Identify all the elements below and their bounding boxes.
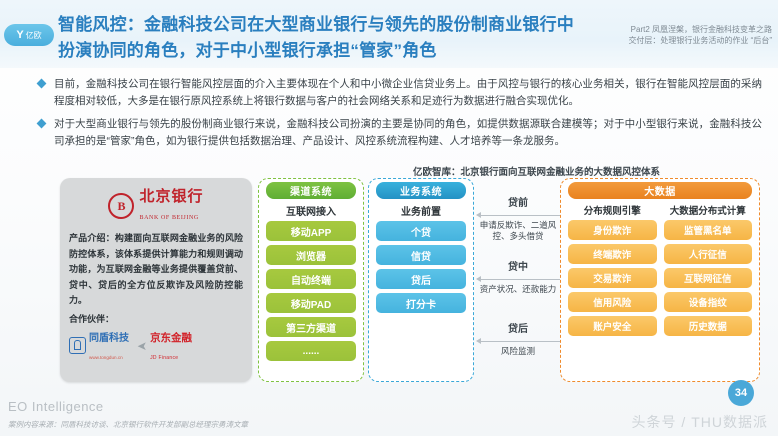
bigdata-chip: 人行征信 — [664, 244, 753, 264]
page-title: 智能风控：金融科技公司在大型商业银行与领先的股份制商业银行中扮演协同的角色，对于… — [58, 12, 588, 64]
column-big-data: 大数据 分布规则引擎 身份欺诈 终端欺诈 交易欺诈 信用风险 账户安全 大数据分… — [560, 178, 760, 382]
risk-control-diagram: B 北京银行 BANK OF BEIJING 产品介绍：构建面向互联网金融业务的… — [0, 176, 778, 392]
slide: Y 亿欧 智能风控：金融科技公司在大型商业银行与领先的股份制商业银行中扮演协同的… — [0, 0, 778, 436]
column-header: 大数据 — [568, 182, 752, 199]
eo-logo-mark: Y — [16, 30, 23, 41]
stage-name: 贷前 — [476, 194, 560, 209]
bank-of-beijing-card: B 北京银行 BANK OF BEIJING 产品介绍：构建面向互联网金融业务的… — [60, 178, 252, 382]
column-subtitle: 互联网接入 — [266, 203, 356, 218]
footer-brand: EO Intelligence — [8, 399, 104, 414]
bullet-text: 对于大型商业银行与领先的股份制商业银行来说，金融科技公司扮演的主要是协同的角色，… — [54, 116, 762, 150]
business-chip: 打分卡 — [376, 293, 466, 313]
arrow-left-icon — [476, 337, 560, 345]
column-header: 业务系统 — [376, 182, 466, 199]
eo-logo: Y 亿欧 — [4, 24, 54, 46]
column-business-system: 业务系统 业务前置 个贷 信贷 贷后 打分卡 — [368, 178, 474, 382]
partner-subtitle: JD Finance — [150, 355, 178, 361]
bank-logo: B 北京银行 BANK OF BEIJING — [68, 188, 244, 224]
bullet-text: 目前，金融科技公司在银行智能风控层面的介入主要体现在个人和中小微企业信贷业务上。… — [54, 76, 762, 110]
bigdata-chip: 监管黑名单 — [664, 220, 753, 240]
group-subtitle: 分布规则引擎 — [568, 203, 657, 217]
business-chip: 信贷 — [376, 245, 466, 265]
bigdata-chip: 设备指纹 — [664, 292, 753, 312]
footer-source: 案例内容来源：同盾科技访谈、北京银行软件开发部副总经理宗勇涛文章 — [8, 419, 248, 430]
bigdata-group-rule-engine: 分布规则引擎 身份欺诈 终端欺诈 交易欺诈 信用风险 账户安全 — [568, 199, 657, 340]
stage-name: 贷中 — [476, 258, 560, 273]
bank-seal-icon: B — [108, 193, 134, 219]
channel-chip: 第三方渠道 — [266, 317, 356, 337]
partner-name: 京东金融 — [150, 332, 192, 344]
channel-chip: 移动APP — [266, 221, 356, 241]
diamond-bullet-icon — [37, 119, 47, 129]
bigdata-chip: 交易欺诈 — [568, 268, 657, 288]
header-note-line2: 交付层：处理银行业务活动的作业 “后台” — [582, 35, 772, 46]
partner-name: 同盾科技 — [89, 333, 129, 344]
bank-name-cn: 北京银行 — [139, 188, 203, 205]
diamond-bullet-icon — [37, 79, 47, 89]
group-subtitle: 大数据分布式计算 — [664, 203, 753, 217]
bigdata-chip: 互联网征信 — [664, 268, 753, 288]
stage-name: 贷后 — [476, 320, 560, 335]
column-subtitle: 业务前置 — [376, 203, 466, 218]
header-note: Part2 凤凰涅槃，银行金融科技变革之路 交付层：处理银行业务活动的作业 “后… — [582, 24, 772, 46]
eo-logo-text: 亿欧 — [26, 31, 42, 40]
bullet-item: 对于大型商业银行与领先的股份制商业银行来说，金融科技公司扮演的主要是协同的角色，… — [36, 116, 762, 150]
bullet-item: 目前，金融科技公司在银行智能风控层面的介入主要体现在个人和中小微企业信贷业务上。… — [36, 76, 762, 110]
stage-desc: 风险监测 — [476, 346, 560, 357]
bullet-list: 目前，金融科技公司在银行智能风控层面的介入主要体现在个人和中小微企业信贷业务上。… — [36, 76, 762, 156]
column-channel-system: 渠道系统 互联网接入 移动APP 浏览器 自动终端 移动PAD 第三方渠道 ..… — [258, 178, 364, 382]
header-note-line1: Part2 凤凰涅槃，银行金融科技变革之路 — [582, 24, 772, 35]
column-header: 渠道系统 — [266, 182, 356, 199]
channel-chip: 移动PAD — [266, 293, 356, 313]
partner-tongdun: 同盾科技 www.tongdun.cn — [69, 328, 129, 364]
channel-chip: 浏览器 — [266, 245, 356, 265]
stage-pre-loan: 贷前 申请反欺诈、二道风控、多头借贷 — [476, 194, 560, 242]
partner-logos: 同盾科技 www.tongdun.cn ➤ 京东金融 JD Finance — [69, 328, 244, 364]
page-number-badge: 34 — [728, 380, 754, 406]
bigdata-chip: 信用风险 — [568, 292, 657, 312]
business-chip: 贷后 — [376, 269, 466, 289]
partner-url: www.tongdun.cn — [89, 355, 123, 360]
stage-post-loan: 贷后 风险监测 — [476, 320, 560, 357]
stage-desc: 资产状况、还款能力 — [476, 284, 560, 295]
bigdata-group-distributed-computing: 大数据分布式计算 监管黑名单 人行征信 互联网征信 设备指纹 历史数据 — [664, 199, 753, 340]
tongdun-shield-icon — [69, 337, 86, 354]
bigdata-chip: 账户安全 — [568, 316, 657, 336]
partner-label: 合作伙伴： — [69, 312, 243, 325]
arrow-left-icon — [476, 211, 560, 219]
product-intro: 产品介绍：构建面向互联网金融业务的风险防控体系，该体系提供计算能力和规则调动功能… — [69, 231, 243, 309]
stage-during-loan: 贷中 资产状况、还款能力 — [476, 258, 560, 295]
bigdata-chip: 身份欺诈 — [568, 220, 657, 240]
loan-stage-flow: 贷前 申请反欺诈、二道风控、多头借贷 贷中 资产状况、还款能力 贷后 风险监测 — [476, 182, 560, 380]
channel-chip: 自动终端 — [266, 269, 356, 289]
stage-desc: 申请反欺诈、二道风控、多头借贷 — [476, 220, 560, 242]
bigdata-chip: 历史数据 — [664, 316, 753, 336]
watermark: 头条号 / THU数据派 — [632, 412, 768, 432]
bank-name-en: BANK OF BEIJING — [139, 215, 198, 221]
arrow-left-icon — [476, 275, 560, 283]
business-chip: 个贷 — [376, 221, 466, 241]
slide-header: Y 亿欧 智能风控：金融科技公司在大型商业银行与领先的股份制商业银行中扮演协同的… — [0, 0, 778, 68]
bigdata-chip: 终端欺诈 — [568, 244, 657, 264]
jd-dog-icon: ➤ — [137, 339, 147, 353]
partner-jd-finance: ➤ 京东金融 JD Finance — [137, 328, 192, 364]
channel-chip: ...... — [266, 341, 356, 361]
